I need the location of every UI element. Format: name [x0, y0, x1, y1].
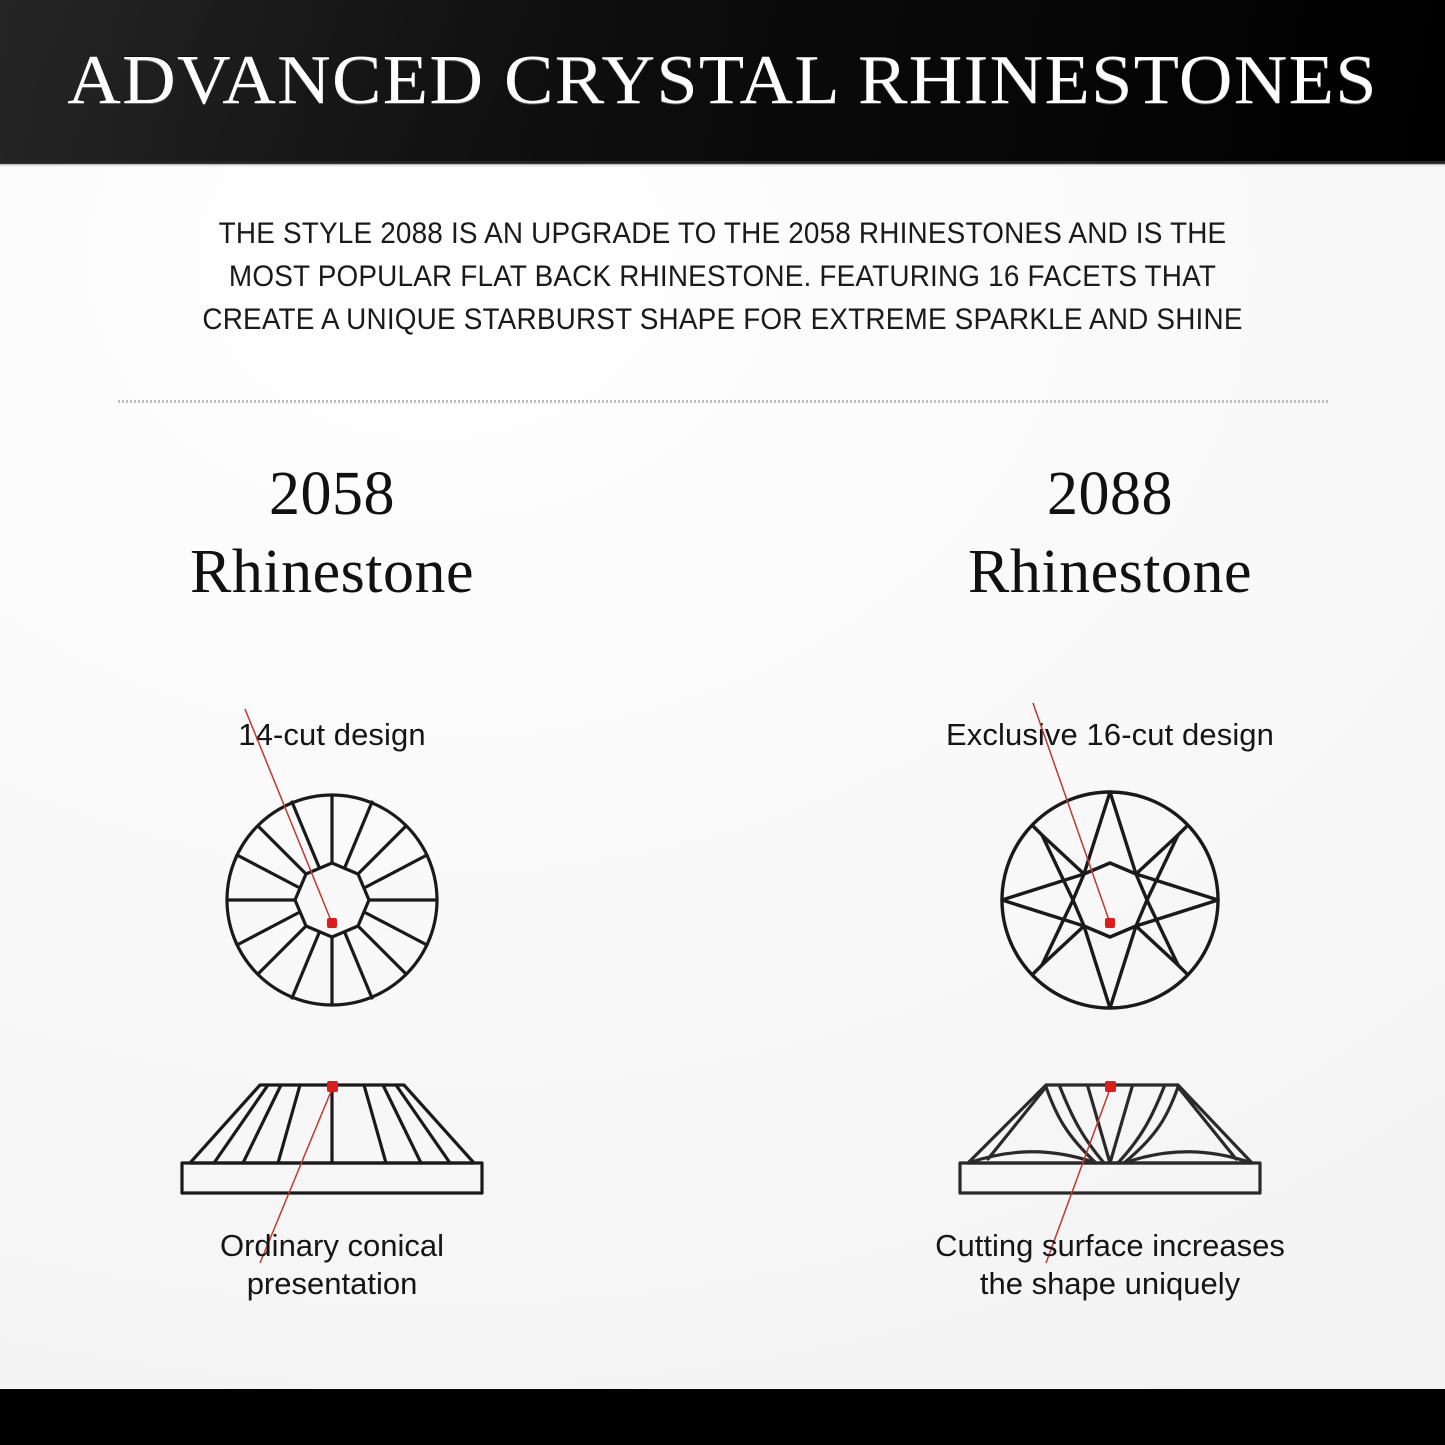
column-2088-heading: 2088 Rhinestone [800, 455, 1420, 611]
leader-marker-dot [327, 918, 337, 928]
intro-paragraph: THE STYLE 2088 IS AN UPGRADE TO THE 2058… [144, 212, 1302, 341]
column-2058: 2058 Rhinestone 14-cut design [22, 455, 642, 1325]
2058-side-view-diagram [82, 1067, 582, 1217]
leader-marker-dot [327, 1081, 338, 1092]
infographic-page: ADVANCED CRYSTAL RHINESTONES THE STYLE 2… [0, 0, 1445, 1445]
2088-side-view-diagram [860, 1067, 1360, 1217]
dotted-divider [118, 400, 1328, 403]
column-2088-heading-number: 2088 [800, 455, 1420, 533]
page-title: ADVANCED CRYSTAL RHINESTONES [0, 0, 1445, 161]
caption-line-2: presentation [22, 1265, 642, 1303]
caption-line-2: the shape uniquely [800, 1265, 1420, 1303]
column-2088: 2088 Rhinestone Exclusive 16-cut design [800, 455, 1420, 1325]
caption-ordinary-conical: Ordinary conical presentation [22, 1227, 642, 1303]
leader-marker-dot [1105, 1081, 1116, 1092]
2088-top-view-diagram [860, 755, 1360, 1045]
column-2058-heading: 2058 Rhinestone [22, 455, 642, 611]
column-2058-heading-word: Rhinestone [22, 533, 642, 611]
caption-line-1: Ordinary conical [22, 1227, 642, 1265]
caption-cutting-surface: Cutting surface increases the shape uniq… [800, 1227, 1420, 1303]
column-2088-heading-word: Rhinestone [800, 533, 1420, 611]
intro-line-3: CREATE A UNIQUE STARBURST SHAPE FOR EXTR… [144, 298, 1302, 341]
intro-line-2: MOST POPULAR FLAT BACK RHINESTONE. FEATU… [144, 255, 1302, 298]
footer-black-bar [0, 1389, 1445, 1445]
annotation-exclusive-16-cut-design: Exclusive 16-cut design [800, 717, 1420, 753]
column-2058-heading-number: 2058 [22, 455, 642, 533]
annotation-14-cut-design: 14-cut design [22, 717, 642, 753]
2058-top-view-diagram [82, 755, 582, 1045]
leader-marker-dot [1105, 918, 1115, 928]
caption-line-1: Cutting surface increases [800, 1227, 1420, 1265]
header-underline-divider [0, 161, 1445, 167]
intro-line-1: THE STYLE 2088 IS AN UPGRADE TO THE 2058… [144, 212, 1302, 255]
